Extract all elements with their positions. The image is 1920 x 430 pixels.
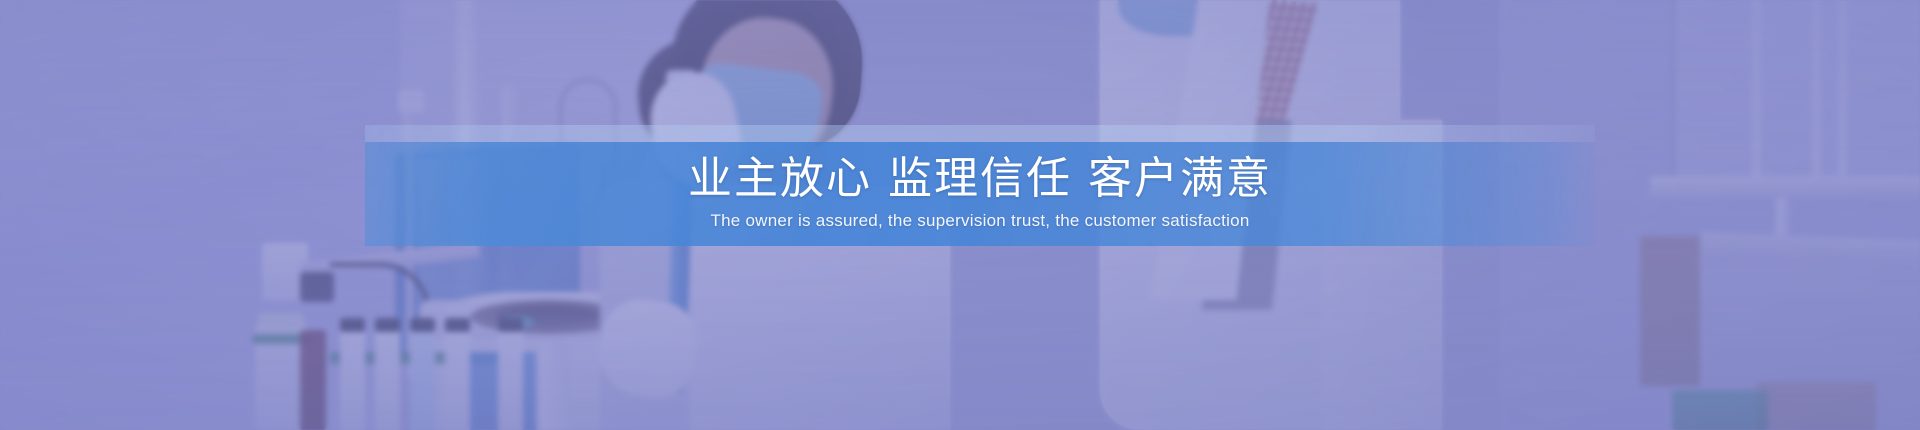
- banner-subheadline: The owner is assured, the supervision tr…: [710, 211, 1249, 231]
- banner-headline: 业主放心 监理信任 客户满意: [688, 154, 1272, 203]
- hero-banner: 业主放心 监理信任 客户满意 The owner is assured, the…: [0, 0, 1920, 430]
- slogan-block: 业主放心 监理信任 客户满意 The owner is assured, the…: [365, 138, 1595, 248]
